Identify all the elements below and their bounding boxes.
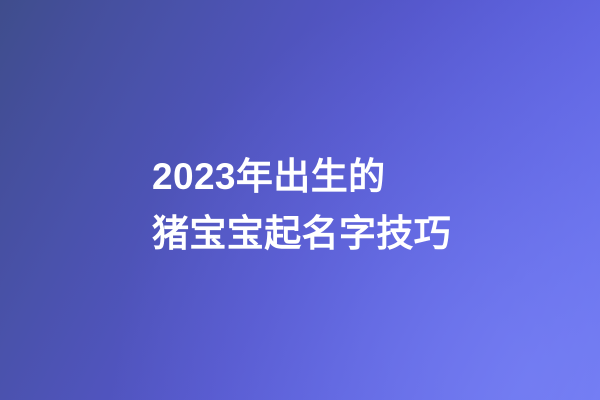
title-card: 2023年出生的 猪宝宝起名字技巧 xyxy=(0,0,600,400)
title-line-2: 猪宝宝起名字技巧 xyxy=(152,205,451,262)
page-title: 2023年出生的 猪宝宝起名字技巧 xyxy=(152,148,451,262)
title-line-1: 2023年出生的 xyxy=(152,148,451,205)
